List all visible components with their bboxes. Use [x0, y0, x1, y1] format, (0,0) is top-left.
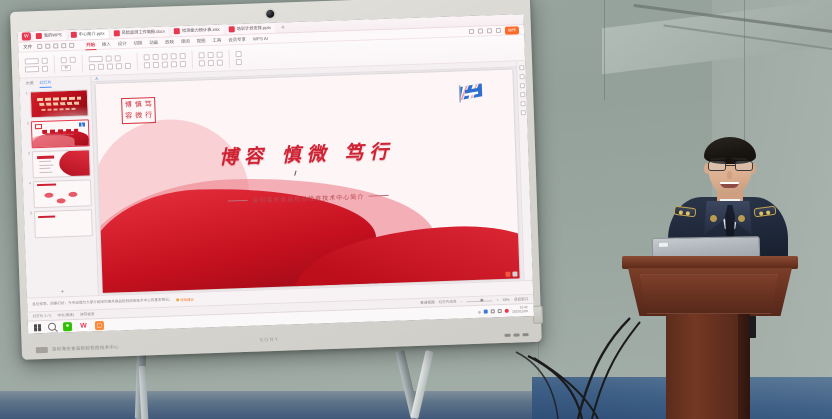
glasses-icon — [708, 161, 753, 171]
podium-inset-panel — [640, 274, 778, 314]
laptop-brand-tag — [658, 242, 669, 248]
collar-badge-left — [710, 215, 717, 222]
podium — [622, 256, 798, 419]
podium-column — [666, 314, 748, 419]
mouth — [720, 182, 739, 188]
podium-cable-clip — [749, 316, 756, 338]
nose — [727, 171, 732, 179]
podium-top-surface — [622, 256, 798, 269]
collar-badge-right — [738, 215, 745, 222]
